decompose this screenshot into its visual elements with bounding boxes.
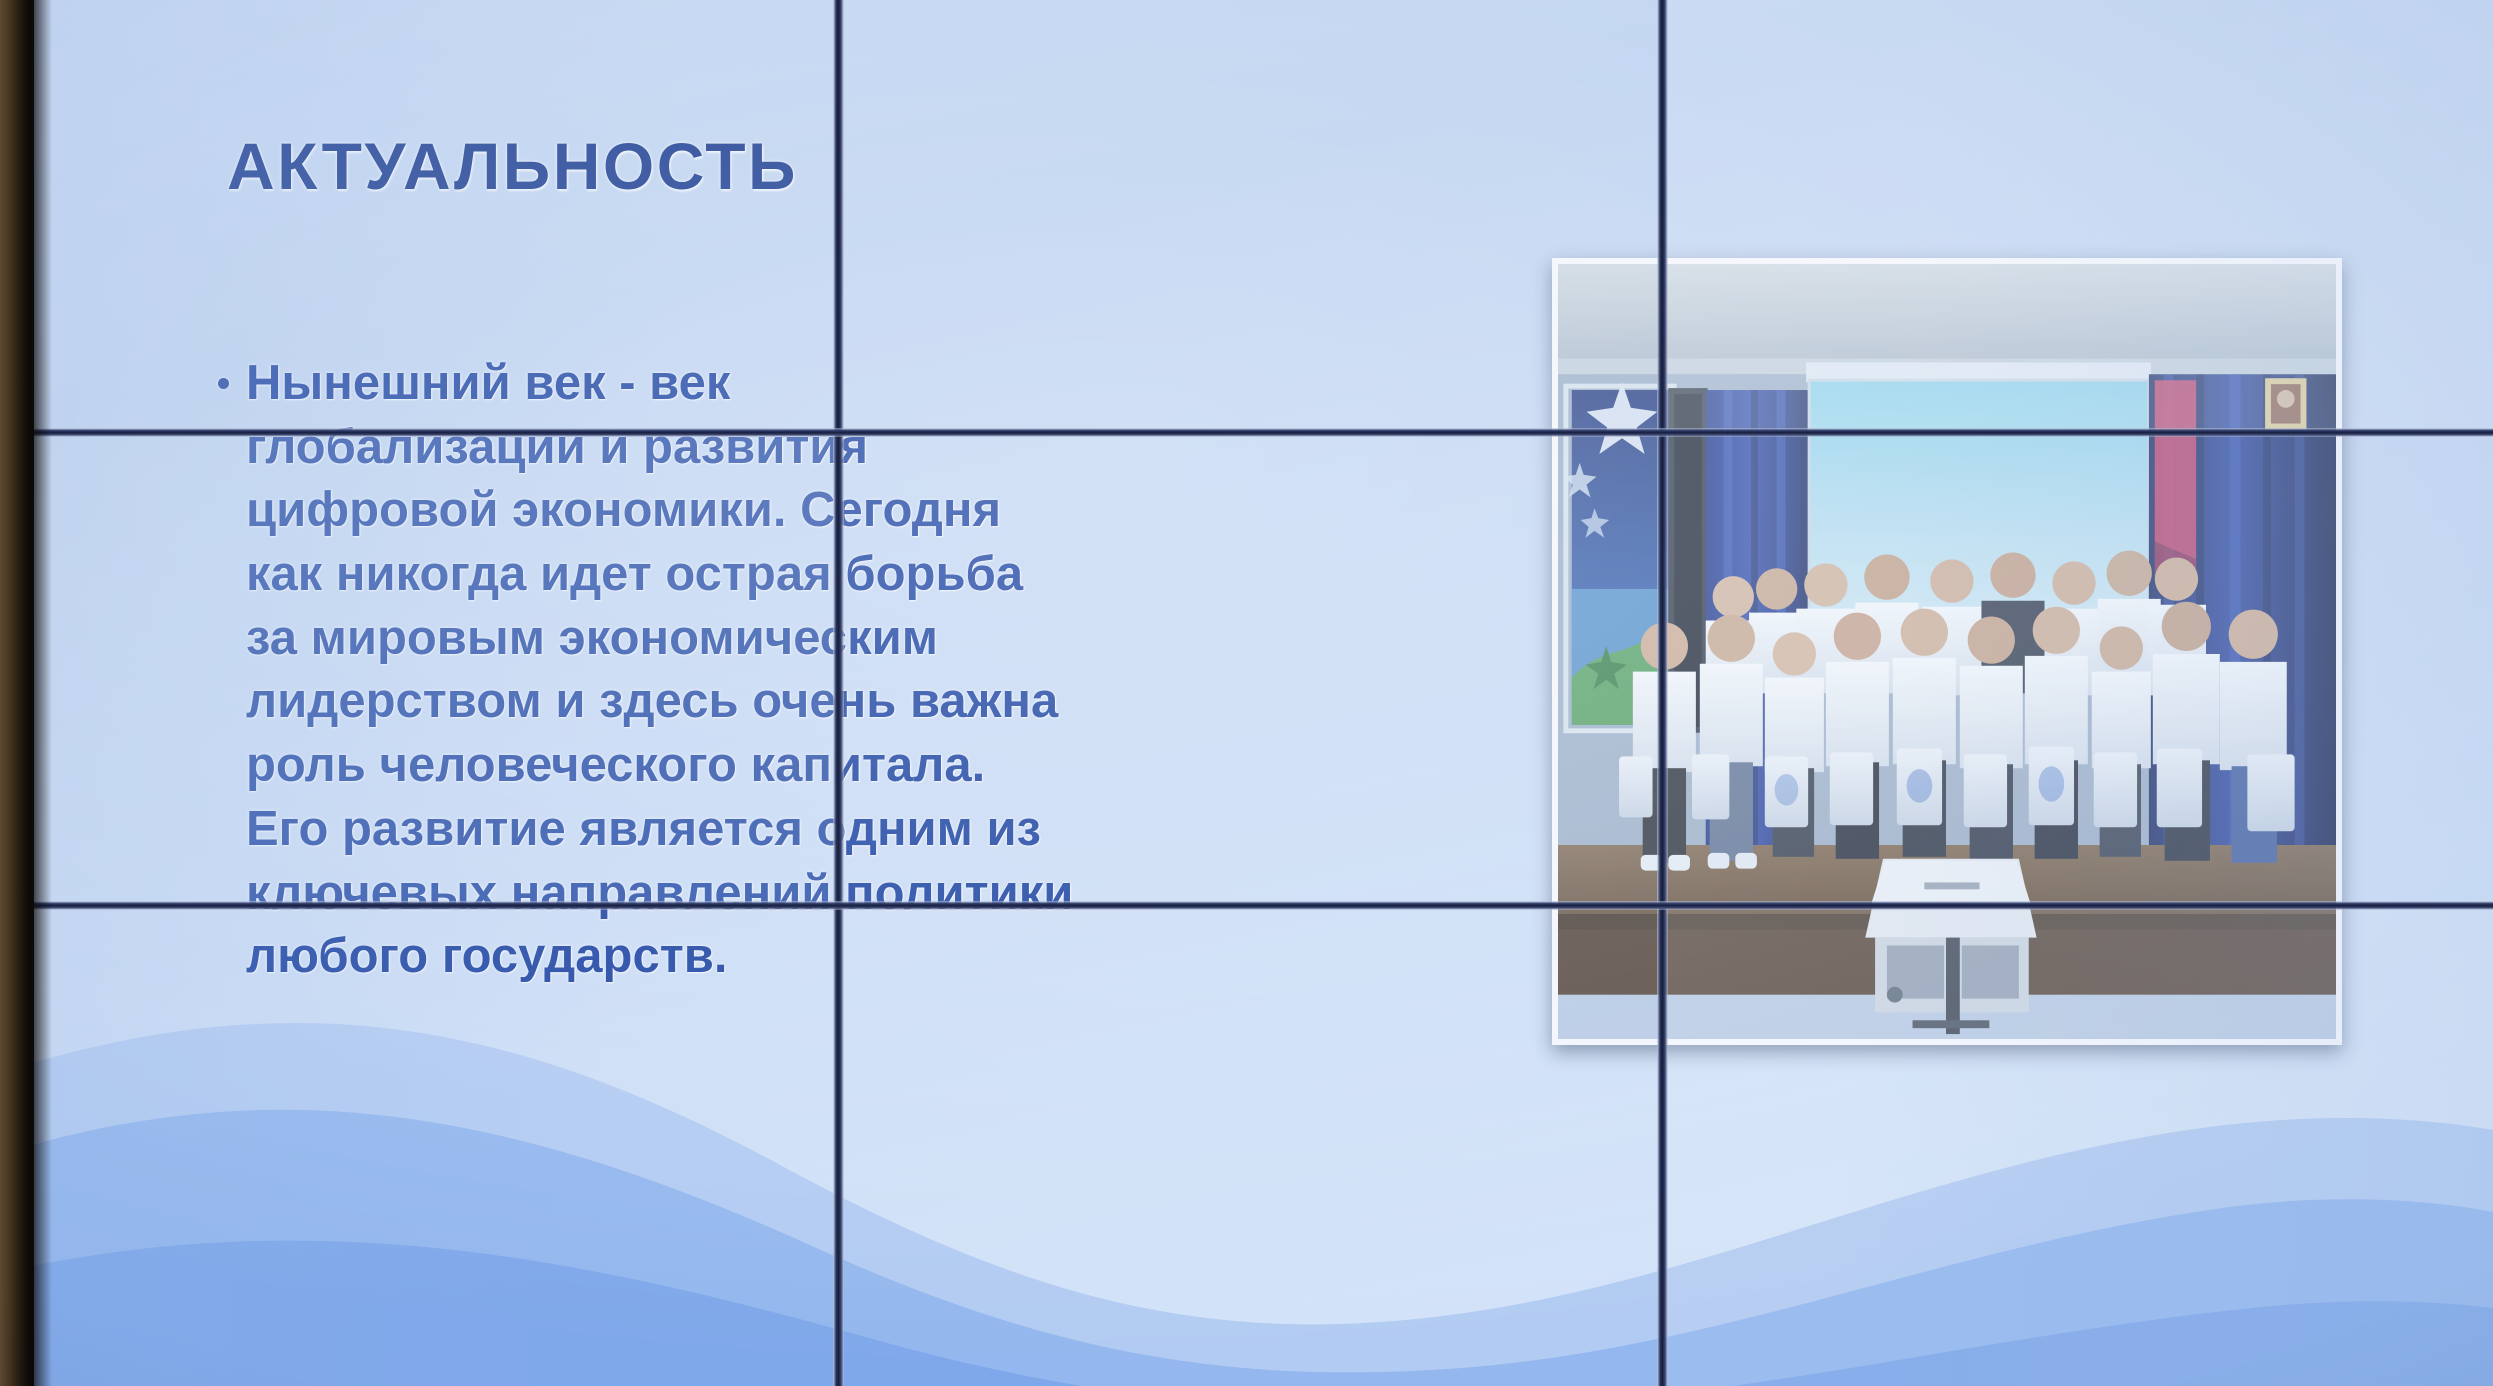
bullet-line: Нынешний век - век	[246, 352, 1073, 416]
bullet-line: ключевых направлений политики	[246, 862, 1073, 926]
video-wall-screenshot: АКТУАЛЬНОСТЬ Нынешний век - век глобализ…	[0, 0, 2493, 1386]
list-item: Нынешний век - век глобализации и развит…	[218, 352, 1468, 989]
slide-body: Нынешний век - век глобализации и развит…	[218, 352, 1468, 989]
slide-surface: АКТУАЛЬНОСТЬ Нынешний век - век глобализ…	[22, 0, 2493, 1386]
room-wall-edge-shadow	[30, 0, 52, 1386]
room-wall-edge	[0, 0, 34, 1386]
bullet-text: Нынешний век - век глобализации и развит…	[246, 352, 1073, 989]
bullet-dot-icon	[218, 378, 229, 389]
page-title: АКТУАЛЬНОСТЬ	[227, 128, 798, 204]
bullet-line: роль человеческого капитала.	[246, 734, 1073, 798]
bullet-line: цифровой экономики. Сегодня	[246, 479, 1073, 543]
bullet-line: глобализации и развития	[246, 416, 1073, 480]
bullet-line: любого государств.	[246, 925, 1073, 989]
bullet-line: Его развитие является одним из	[246, 798, 1073, 862]
slide-photo	[1552, 258, 2342, 1045]
bullet-line: за мировым экономическим	[246, 607, 1073, 671]
bullet-line: как никогда идет острая борьба	[246, 543, 1073, 607]
bullet-line: лидерством и здесь очень важна	[246, 670, 1073, 734]
